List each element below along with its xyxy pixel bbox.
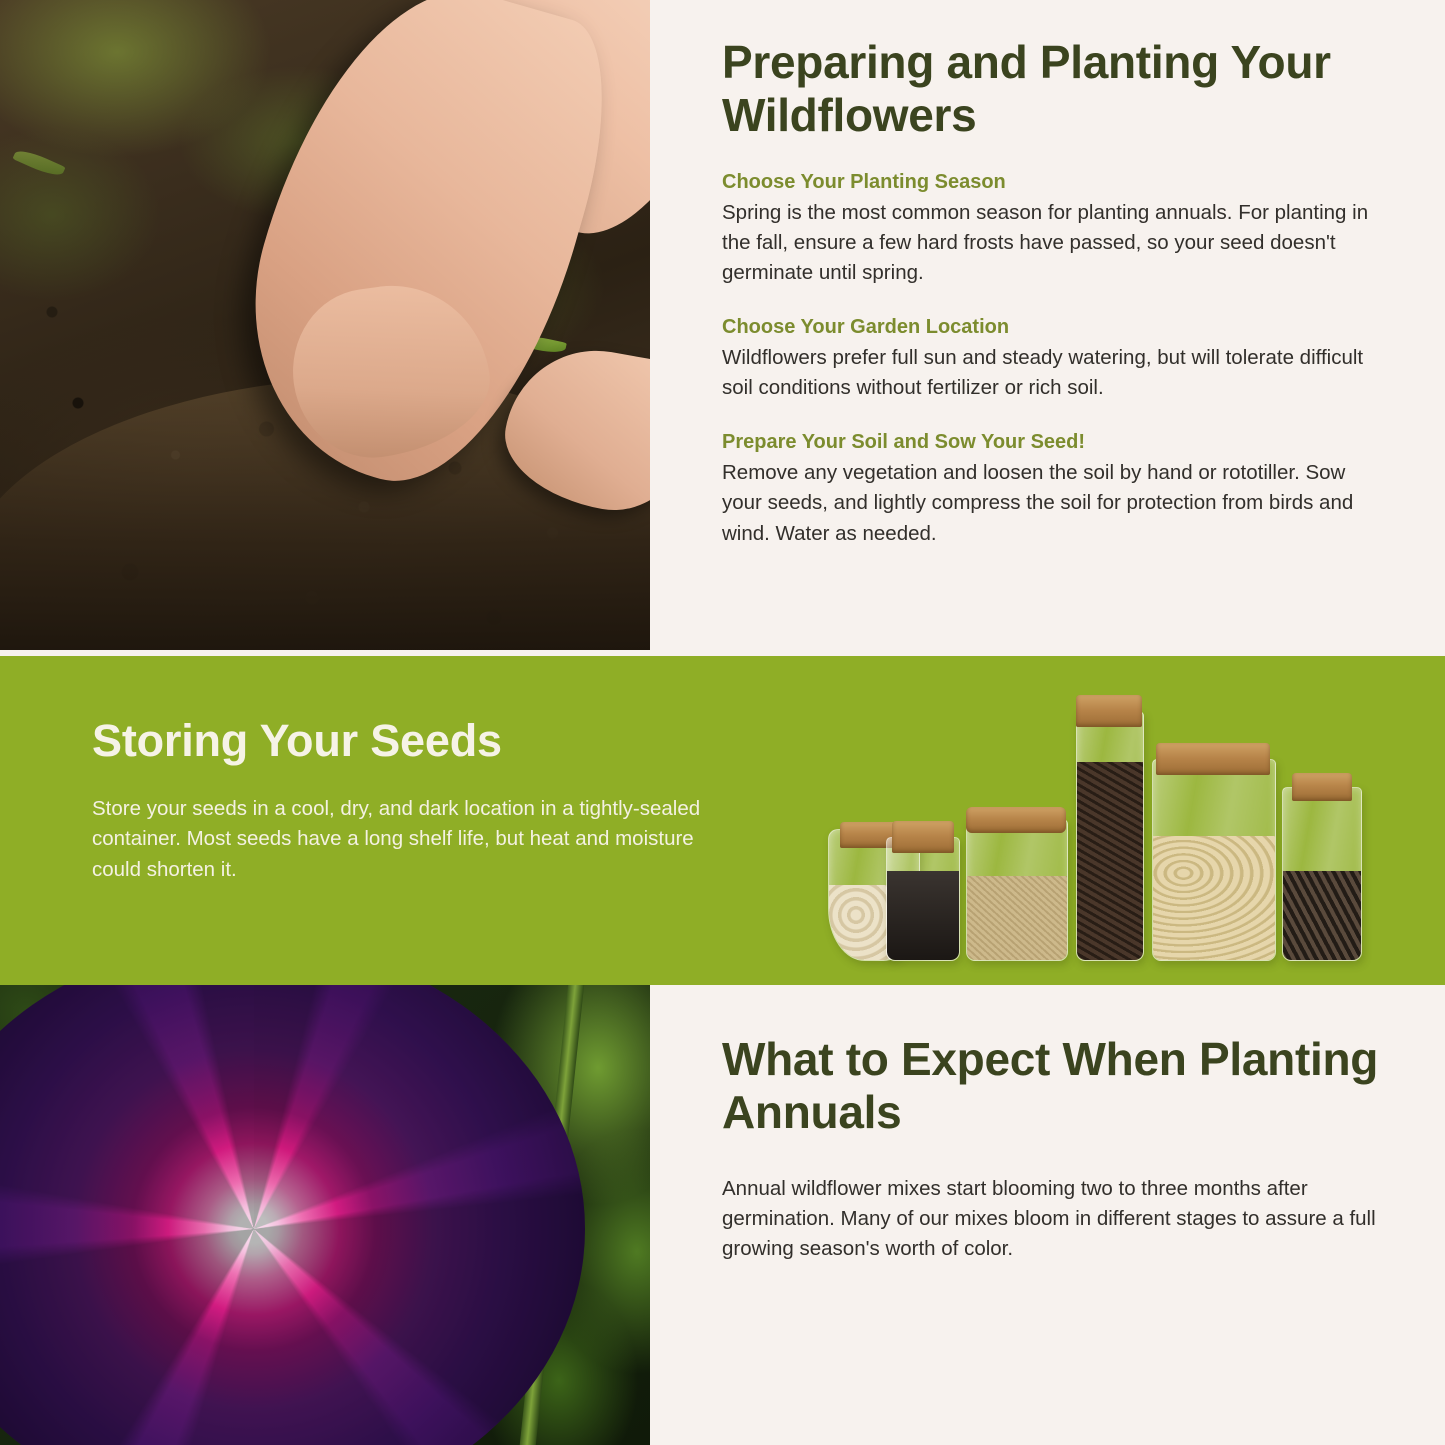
paragraph-prepare-soil: Remove any vegetation and loosen the soi… xyxy=(722,458,1390,548)
section-what-to-expect: What to Expect When Planting Annuals Ann… xyxy=(0,985,1445,1445)
jar-dark-seeds-tall xyxy=(1076,711,1144,961)
photo-purple-morning-glory xyxy=(0,985,650,1445)
jar-fill-sunflower-seeds xyxy=(1283,871,1361,960)
photo-hands-sowing-seeds xyxy=(0,0,650,650)
infographic-page: Preparing and Planting Your Wildflowers … xyxy=(0,0,1445,1445)
storing-seeds-paragraph: Store your seeds in a cool, dry, and dar… xyxy=(92,794,712,886)
flower-petal-rays xyxy=(0,985,585,1445)
page-title: Preparing and Planting Your Wildflowers xyxy=(722,36,1390,143)
what-to-expect-title: What to Expect When Planting Annuals xyxy=(722,1033,1385,1140)
photo-seed-jars xyxy=(820,696,1365,961)
paragraph-garden-location: Wildflowers prefer full sun and steady w… xyxy=(722,343,1390,403)
subheading-prepare-soil: Prepare Your Soil and Sow Your Seed! xyxy=(722,429,1390,455)
storing-seeds-title: Storing Your Seeds xyxy=(92,716,712,766)
subheading-garden-location: Choose Your Garden Location xyxy=(722,314,1390,340)
cork-lid xyxy=(1292,773,1352,801)
cork-lid xyxy=(1076,695,1142,727)
green-band-text: Storing Your Seeds Store your seeds in a… xyxy=(92,716,712,886)
top-text-panel: Preparing and Planting Your Wildflowers … xyxy=(650,0,1445,656)
what-to-expect-paragraph: Annual wildflower mixes start blooming t… xyxy=(722,1174,1385,1264)
jar-fill-dark-seeds xyxy=(1077,762,1143,960)
bottom-text-panel: What to Expect When Planting Annuals Ann… xyxy=(650,985,1445,1445)
subheading-planting-season: Choose Your Planting Season xyxy=(722,169,1390,195)
cork-lid xyxy=(892,821,954,853)
cork-lid xyxy=(1156,743,1270,775)
jar-fill-pumpkin-seeds xyxy=(1153,836,1275,960)
jar-tan-grain xyxy=(966,819,1068,961)
cork-lid xyxy=(966,807,1066,833)
jar-fill-black-seeds xyxy=(887,871,959,960)
jar-pumpkin-seeds xyxy=(1152,759,1276,961)
jar-sunflower-seeds xyxy=(1282,787,1362,961)
paragraph-planting-season: Spring is the most common season for pla… xyxy=(722,198,1390,288)
jar-fill-tan-grain xyxy=(967,876,1067,960)
jar-black-seeds xyxy=(886,837,960,961)
section-preparing-planting: Preparing and Planting Your Wildflowers … xyxy=(0,0,1445,656)
